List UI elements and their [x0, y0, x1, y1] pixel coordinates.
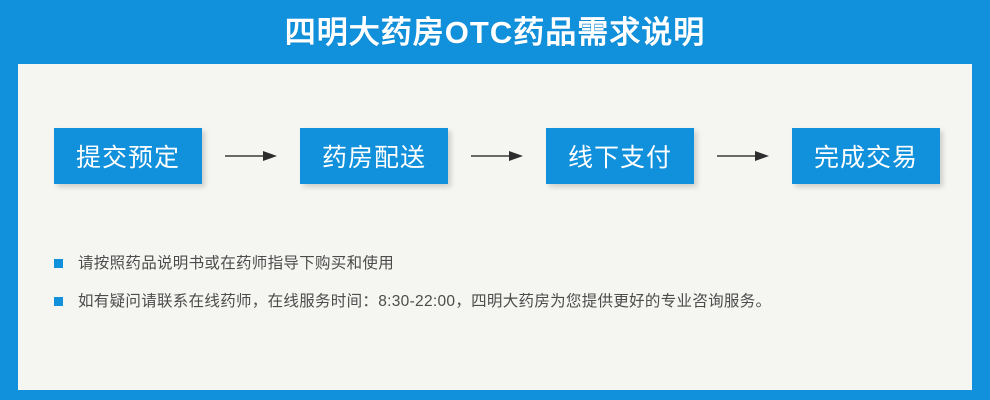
banner-header: 四明大药房OTC药品需求说明 — [0, 0, 990, 64]
page-title: 四明大药房OTC药品需求说明 — [285, 17, 705, 48]
step-box-4[interactable]: 完成交易 — [792, 128, 940, 184]
content-panel: 提交预定 药房配送 线下支付 — [18, 64, 972, 390]
step-box-3[interactable]: 线下支付 — [546, 128, 694, 184]
note-item: 请按照药品说明书或在药师指导下购买和使用 — [54, 252, 944, 275]
arrow-right-icon — [468, 146, 526, 166]
step-box-1[interactable]: 提交预定 — [54, 128, 202, 184]
step-label-1: 提交预定 — [76, 138, 180, 174]
arrow-right-icon — [714, 146, 772, 166]
step-label-2: 药房配送 — [322, 138, 426, 174]
step-label-4: 完成交易 — [814, 138, 918, 174]
note-text: 如有疑问请联系在线药师，在线服务时间：8:30-22:00，四明大药房为您提供更… — [78, 290, 771, 313]
square-bullet-icon — [54, 259, 63, 268]
note-text: 请按照药品说明书或在药师指导下购买和使用 — [78, 252, 394, 275]
arrow-right-icon — [222, 146, 280, 166]
notes-list: 请按照药品说明书或在药师指导下购买和使用 如有疑问请联系在线药师，在线服务时间：… — [54, 252, 944, 329]
square-bullet-icon — [54, 297, 63, 306]
step-box-2[interactable]: 药房配送 — [300, 128, 448, 184]
process-steps: 提交预定 药房配送 线下支付 — [54, 126, 940, 186]
note-item: 如有疑问请联系在线药师，在线服务时间：8:30-22:00，四明大药房为您提供更… — [54, 290, 944, 313]
otc-requirement-banner: 四明大药房OTC药品需求说明 提交预定 药房配送 — [0, 0, 990, 400]
step-label-3: 线下支付 — [568, 138, 672, 174]
